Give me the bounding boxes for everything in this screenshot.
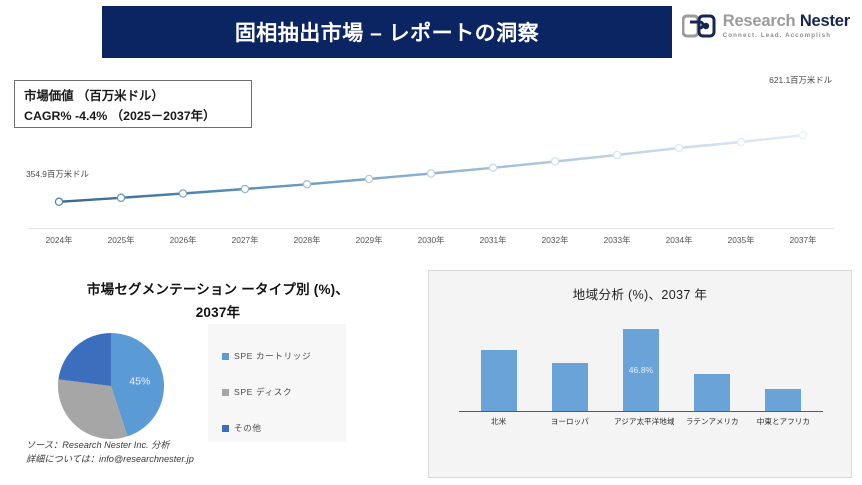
- bar[interactable]: [765, 389, 801, 411]
- line-chart-data-point: [365, 175, 372, 182]
- segmentation-legend: SPE カートリッジSPE ディスクその他: [208, 324, 346, 442]
- bar-chart-x-label: アジア太平洋地域: [614, 416, 668, 427]
- logo-text: Research Nester Connect. Lead. Accomplis…: [723, 13, 850, 39]
- line-chart-x-tick: 2024年: [28, 234, 90, 246]
- bar[interactable]: [552, 363, 588, 411]
- bar[interactable]: [694, 374, 730, 411]
- regional-analysis-bar-chart: 46.8%: [463, 323, 819, 411]
- legend-swatch-icon: [222, 353, 229, 360]
- legend-item-label: SPE ディスク: [234, 386, 292, 398]
- segmentation-pie-chart: 45%: [56, 330, 166, 442]
- segmentation-body: 45% SPE カートリッジSPE ディスクその他: [18, 330, 418, 442]
- line-chart-x-tick: 2027年: [214, 234, 276, 246]
- line-chart-plot: [0, 60, 862, 255]
- brand-logo: Research Nester Connect. Lead. Accomplis…: [682, 13, 850, 39]
- line-chart-x-tick: 2033年: [586, 234, 648, 246]
- line-chart-data-point: [303, 181, 310, 188]
- line-chart-data-point: [799, 132, 806, 139]
- regional-analysis-panel: 地域分析 (%)、2037 年 46.8% 北米ヨーロッパアジア太平洋地域ラテン…: [428, 270, 852, 478]
- segmentation-title-line1: 市場セグメンテーション ータイプ別 (%)、: [18, 278, 418, 301]
- logo-name-research: Research: [723, 12, 796, 30]
- line-chart-x-tick: 2031年: [462, 234, 524, 246]
- line-chart-x-tick: 2035年: [710, 234, 772, 246]
- line-chart-axis-rule: [28, 228, 834, 229]
- bar-column: [756, 323, 810, 411]
- source-note: ソース：Research Nester Inc. 分析 詳細については：info…: [26, 438, 194, 466]
- legend-item[interactable]: その他: [222, 410, 346, 446]
- line-chart-data-point: [737, 138, 744, 145]
- line-chart-data-point: [675, 144, 682, 151]
- report-infographic-page: 固相抽出市場 – レポートの洞察 Research Nester Connect…: [0, 0, 862, 485]
- line-chart-x-tick: 2034年: [648, 234, 710, 246]
- segmentation-title-line2: 2037年: [18, 301, 418, 324]
- line-chart-data-point: [551, 158, 558, 165]
- bar-value-label: 46.8%: [629, 365, 653, 375]
- line-chart-data-point: [117, 194, 124, 201]
- market-value-line-chart: 621.1百万米ドル 354.9百万米ドル 2024年2025年2026年202…: [0, 60, 862, 255]
- line-chart-data-point: [489, 164, 496, 171]
- bar-column: 46.8%: [614, 323, 668, 411]
- line-chart-data-point: [55, 198, 62, 205]
- line-chart-x-tick: 2028年: [276, 234, 338, 246]
- segmentation-panel: 市場セグメンテーション ータイプ別 (%)、 2037年 45% SPE カート…: [18, 272, 418, 477]
- line-chart-x-tick: 2032年: [524, 234, 586, 246]
- regional-analysis-title: 地域分析 (%)、2037 年: [429, 271, 851, 303]
- page-title: 固相抽出市場 – レポートの洞察: [235, 17, 539, 47]
- bar[interactable]: 46.8%: [623, 329, 659, 411]
- header-banner: 固相抽出市場 – レポートの洞察: [102, 6, 672, 58]
- bar-column: [472, 323, 526, 411]
- legend-item-label: その他: [234, 422, 262, 434]
- bar-chart-x-label: ラテンアメリカ: [685, 416, 739, 427]
- line-chart-x-tick: 2037年: [772, 234, 834, 246]
- bar-chart-baseline: [459, 411, 823, 412]
- legend-swatch-icon: [222, 425, 229, 432]
- line-chart-data-point: [613, 151, 620, 158]
- line-chart-x-tick: 2025年: [90, 234, 152, 246]
- legend-item[interactable]: SPE カートリッジ: [222, 338, 346, 374]
- line-chart-x-tick: 2026年: [152, 234, 214, 246]
- legend-swatch-icon: [222, 389, 229, 396]
- pie-slice-value-label: 45%: [129, 375, 150, 387]
- segmentation-title: 市場セグメンテーション ータイプ別 (%)、 2037年: [18, 272, 418, 324]
- bar-chart-x-label: ヨーロッパ: [543, 416, 597, 427]
- logo-tagline: Connect. Lead. Accomplish: [723, 33, 850, 39]
- pie-slice: [58, 333, 111, 386]
- bar[interactable]: [481, 350, 517, 411]
- bar-chart-x-label: 中東とアフリカ: [756, 416, 810, 427]
- bar-chart-x-label: 北米: [472, 416, 526, 427]
- line-chart-x-tick: 2029年: [338, 234, 400, 246]
- logo-name-nester: Nester: [800, 12, 850, 30]
- source-line-1: ソース：Research Nester Inc. 分析: [26, 438, 194, 452]
- bar-column: [543, 323, 597, 411]
- legend-item[interactable]: SPE ディスク: [222, 374, 346, 410]
- line-chart-data-point: [179, 190, 186, 197]
- line-chart-x-tick: 2030年: [400, 234, 462, 246]
- line-chart-x-axis: 2024年2025年2026年2027年2028年2029年2030年2031年…: [28, 234, 834, 246]
- source-line-2: 詳細については：info@researchnester.jp: [26, 452, 194, 466]
- bar-column: [685, 323, 739, 411]
- line-chart-data-point: [427, 170, 434, 177]
- research-nester-logo-icon: [682, 13, 716, 39]
- line-chart-data-point: [241, 185, 248, 192]
- legend-item-label: SPE カートリッジ: [234, 350, 311, 362]
- bar-chart-x-axis: 北米ヨーロッパアジア太平洋地域ラテンアメリカ中東とアフリカ: [463, 416, 819, 427]
